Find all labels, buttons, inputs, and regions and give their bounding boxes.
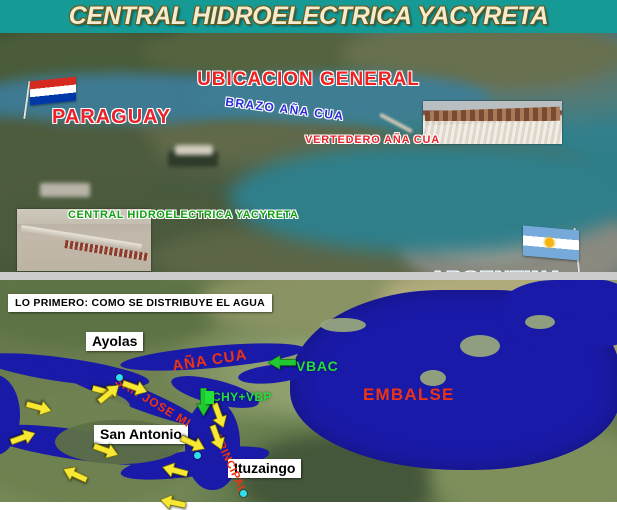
urban-blob [168,151,218,167]
city-label-ayolas: Ayolas [86,332,143,351]
city-marker-ituzaingo-icon [240,490,247,497]
urban-blob [175,145,213,155]
page-title: CENTRAL HIDROELECTRICA YACYRETA [69,2,549,31]
sun-de-mayo-icon [545,238,554,248]
reservoir-inlet [560,280,617,320]
map-label-brazo-ana-cua: BRAZO AÑA CUA [225,95,346,124]
reservoir-island [460,335,500,357]
map-label-central-hidroelectrica: CENTRAL HIDROELECTRICA YACYRETA [68,209,298,221]
city-label-san-antonio: San Antonio [94,425,188,444]
banner-lo-primero: LO PRIMERO: COMO SE DISTRIBUYE EL AGUA [8,294,272,312]
spillway-foam [423,121,562,144]
argentina-flag-icon [520,226,586,272]
outflow-label-vbac: VBAC [296,358,338,374]
flow-label-embalse: EMBALSE [363,385,455,405]
satellite-map-ubicacion-general: UBICACION GENERAL PARAGUAY BRAZO AÑA CUA… [0,33,617,272]
title-bar: CENTRAL HIDROELECTRICA YACYRETA [0,0,617,33]
bottom-strip [0,502,617,510]
slide-root: CENTRAL HIDROELECTRICA YACYRETA UBICACIO… [0,0,617,510]
outflow-marker-chy-vbp-icon [205,391,214,404]
urban-blob [40,183,90,197]
city-marker-ayolas-icon [116,374,123,381]
outflow-arrow-vbac-icon [268,355,296,370]
terrain-blob [150,223,510,272]
map-label-vertedero-ana-cua: VERTEDERO AÑA CUA [305,134,440,146]
spillway-photo-inset [423,101,562,144]
reservoir-island [320,318,366,332]
reservoir-island [525,315,555,329]
panel-divider [0,272,617,280]
panel-subtitle: UBICACION GENERAL [0,69,617,91]
dam-wall-line [379,113,413,133]
reservoir-island [420,370,446,386]
